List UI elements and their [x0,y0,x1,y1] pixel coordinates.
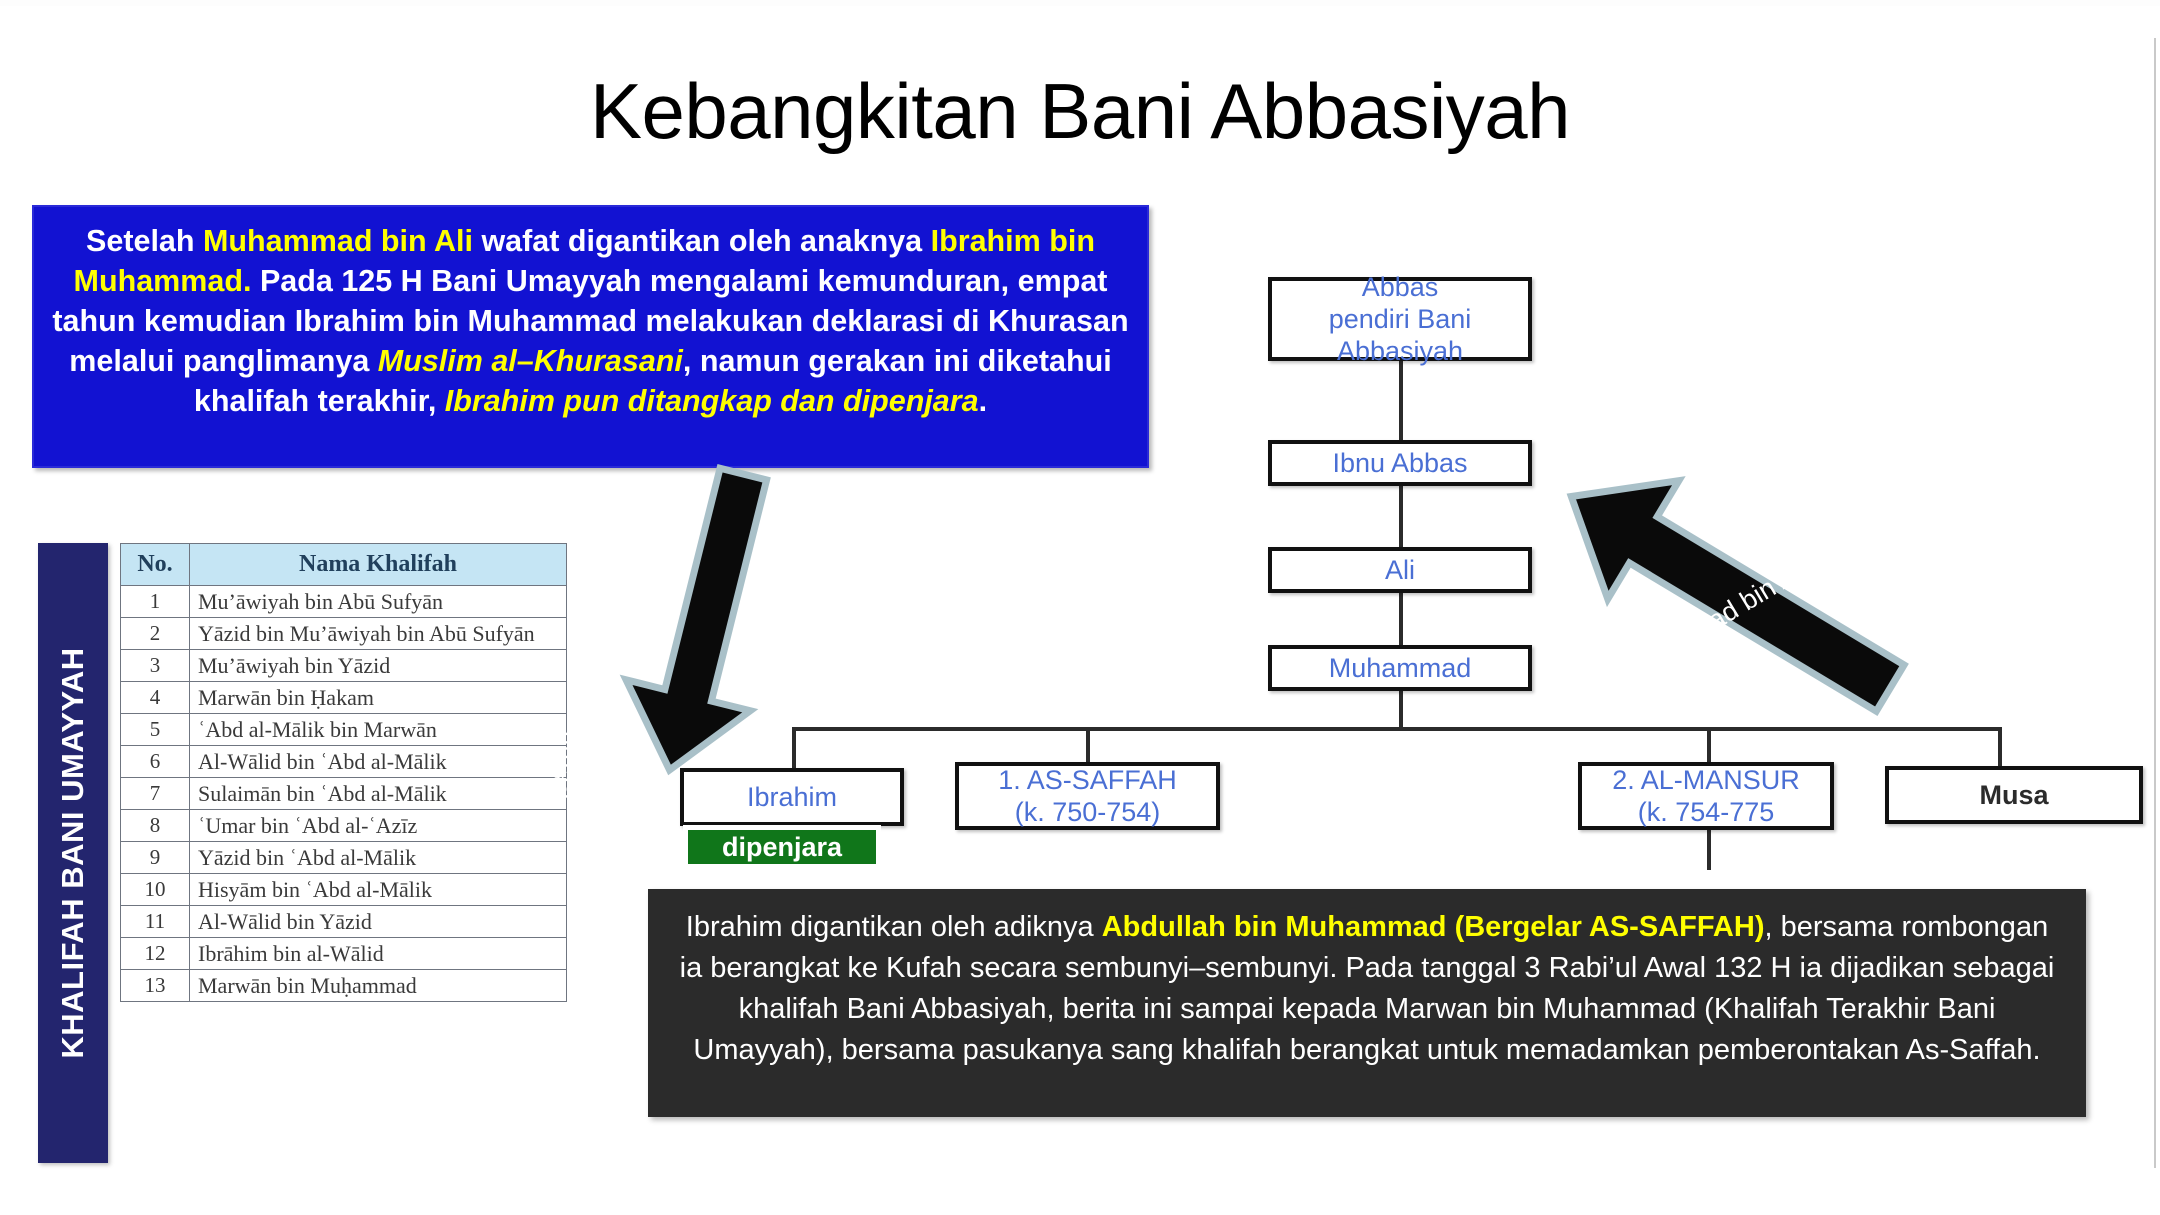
cell-no: 2 [121,618,190,650]
connector-muhammad-to-bus [1399,687,1403,729]
tree-node-abbas[interactable]: Abbas pendiri Bani Abbasiyah [1268,277,1532,361]
blue-text-seg5: . [979,384,987,418]
tree-node-ali[interactable]: Ali [1268,547,1532,593]
blue-highlight-muslim-al-khurasani: Muslim al–Khurasani [378,344,683,378]
tree-node-al-mansur-line1: 2. AL-MANSUR [1612,764,1800,796]
slide-right-edge [2154,38,2156,1168]
table-row: 13Marwān bin Muḥammad [121,970,567,1002]
table-row: 7Sulaimān bin ʿAbd al-Mālik [121,778,567,810]
table-row: 12Ibrāhim bin al-Wālid [121,938,567,970]
tree-node-as-saffah-line2: (k. 750-754) [1015,796,1161,828]
connector-ali-to-muhammad [1399,589,1403,651]
cell-name: Ibrāhim bin al-Wālid [190,938,567,970]
callout-arrow-ibrahim-bin-muhammad: Ibrahim bin Muhammad [590,468,810,778]
cell-no: 6 [121,746,190,778]
cell-name: Yāzid bin ʿAbd al-Mālik [190,842,567,874]
col-header-nama-khalifah: Nama Khalifah [190,544,567,586]
cell-no: 10 [121,874,190,906]
table-row: 2Yāzid bin Mu’āwiyah bin Abū Sufyān [121,618,567,650]
cell-no: 9 [121,842,190,874]
tree-node-al-mansur-line2: (k. 754-775 [1638,796,1775,828]
cell-name: ʿUmar bin ʿAbd al-ʿAzīz [190,810,567,842]
khalifah-table: No. Nama Khalifah 1Mu’āwiyah bin Abū Suf… [120,543,567,1002]
tree-node-abbas-line3: Abbasiyah [1337,335,1463,367]
cell-name: Yāzid bin Mu’āwiyah bin Abū Sufyān [190,618,567,650]
cell-name: Mu’āwiyah bin Abū Sufyān [190,586,567,618]
tree-node-as-saffah-line1: 1. AS-SAFFAH [998,764,1177,796]
cell-no: 3 [121,650,190,682]
slide-top-edge [0,0,2160,6]
tree-node-abbas-line2: pendiri Bani [1329,303,1472,335]
table-row: 11Al-Wālid bin Yāzid [121,906,567,938]
table-row: 3Mu’āwiyah bin Yāzid [121,650,567,682]
tree-node-musa[interactable]: Musa [1885,766,2143,824]
blue-text-seg1: Setelah [86,224,203,258]
table-row: 5ʿAbd al-Mālik bin Marwān [121,714,567,746]
cell-no: 8 [121,810,190,842]
arrow-shape-ibrahim [607,459,805,786]
black-text-seg1: Ibrahim digantikan oleh adiknya [686,911,1102,943]
cell-name: Al-Wālid bin ʿAbd al-Mālik [190,746,567,778]
sidebar-vertical-label: KHALIFAH BANI UMAYYAH [55,647,91,1058]
cell-name: Mu’āwiyah bin Yāzid [190,650,567,682]
blue-highlight-ibrahim-ditangkap: Ibrahim pun ditangkap dan dipenjara [445,384,979,418]
black-highlight-abdullah-bin-muhammad: Abdullah bin Muhammad (Bergelar AS-SAFFA… [1102,911,1765,943]
table-row: 1Mu’āwiyah bin Abū Sufyān [121,586,567,618]
table-row: 6Al-Wālid bin ʿAbd al-Mālik [121,746,567,778]
cell-name: Al-Wālid bin Yāzid [190,906,567,938]
blue-highlight-muhammad-bin-ali: Muhammad bin Ali [203,224,473,258]
table-row: 4Marwān bin Ḥakam [121,682,567,714]
cell-no: 5 [121,714,190,746]
tree-node-as-saffah[interactable]: 1. AS-SAFFAH (k. 750-754) [955,762,1220,830]
tree-node-abbas-line1: Abbas [1362,271,1439,303]
table-row: 8ʿUmar bin ʿAbd al-ʿAzīz [121,810,567,842]
slide-canvas: Kebangkitan Bani Abbasiyah Setelah Muham… [0,0,2160,1215]
cell-no: 7 [121,778,190,810]
table-row: 9Yāzid bin ʿAbd al-Mālik [121,842,567,874]
tree-node-muhammad[interactable]: Muhammad [1268,645,1532,691]
blue-narrative-box: Setelah Muhammad bin Ali wafat digantika… [32,205,1149,468]
cell-name: ʿAbd al-Mālik bin Marwān [190,714,567,746]
khalifah-table-wrapper: No. Nama Khalifah 1Mu’āwiyah bin Abū Suf… [120,543,567,1002]
cell-name: Sulaimān bin ʿAbd al-Mālik [190,778,567,810]
cell-no: 4 [121,682,190,714]
cell-no: 12 [121,938,190,970]
cell-name: Hisyām bin ʿAbd al-Mālik [190,874,567,906]
status-badge-dipenjara: dipenjara [688,830,876,864]
connector-ibnuabbas-to-ali [1399,482,1403,555]
cell-no: 11 [121,906,190,938]
tree-node-ibnu-abbas[interactable]: Ibnu Abbas [1268,440,1532,486]
tree-node-al-mansur[interactable]: 2. AL-MANSUR (k. 754-775 [1578,762,1834,830]
table-header-row: No. Nama Khalifah [121,544,567,586]
sidebar-khalifah-bani-umayyah: KHALIFAH BANI UMAYYAH [38,543,108,1163]
cell-no: 13 [121,970,190,1002]
callout-arrow-muhammad-bin-ali: Muhammad bin Ali [1528,478,1928,708]
connector-abbas-to-ibnuabbas [1399,360,1403,446]
cell-name: Marwān bin Ḥakam [190,682,567,714]
cell-name: Marwān bin Muḥammad [190,970,567,1002]
page-title: Kebangkitan Bani Abbasiyah [0,72,2160,150]
table-row: 10Hisyām bin ʿAbd al-Mālik [121,874,567,906]
cell-no: 1 [121,586,190,618]
col-header-no: No. [121,544,190,586]
connector-sibling-bus [792,727,2000,731]
blue-text-seg2: wafat digantikan oleh anaknya [473,224,931,258]
black-narrative-box: Ibrahim digantikan oleh adiknya Abdullah… [648,889,2086,1117]
connector-bus-to-musa [1998,727,2002,771]
